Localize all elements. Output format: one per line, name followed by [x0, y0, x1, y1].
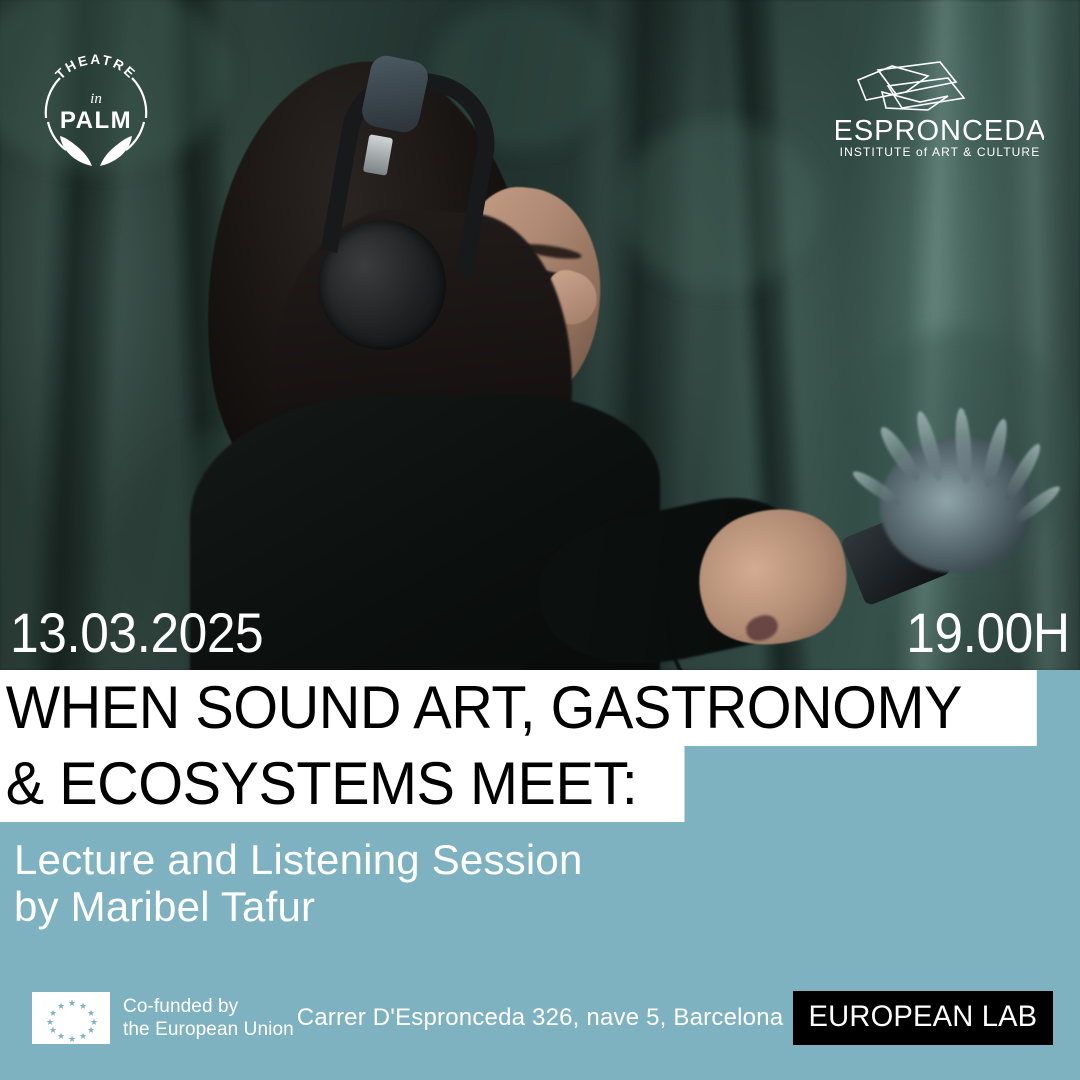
event-title-line-1: WHEN SOUND ART, GASTRONOMY — [0, 670, 1037, 746]
event-subtitle-line-1: Lecture and Listening Session — [14, 836, 583, 883]
person-figure — [150, 40, 850, 670]
espronceda-wordmark: ESPRONCEDA — [836, 115, 1044, 147]
event-poster: THEATRE in PALM ESPRONCEDA — [0, 0, 1080, 1080]
european-lab-badge: EUROPEAN LAB — [793, 991, 1053, 1045]
title-row-2: & ECOSYSTEMS MEET: — [0, 746, 1080, 822]
date-time-row: 13.03.2025 19.00H — [0, 596, 1080, 670]
event-date: 13.03.2025 — [10, 605, 263, 661]
espronceda-tagline: INSTITUTE of ART & CULTURE — [840, 145, 1041, 159]
theatre-in-palm-logo: THEATRE in PALM — [36, 44, 156, 169]
theatre-palm-text: PALM — [60, 107, 132, 134]
cupped-hands-icon — [60, 136, 132, 166]
espronceda-angular-mark-icon — [858, 62, 964, 110]
theatre-script-in: in — [90, 91, 102, 107]
event-title-line-2: & ECOSYSTEMS MEET: — [0, 746, 684, 822]
title-row-1: WHEN SOUND ART, GASTRONOMY — [0, 670, 1080, 746]
event-title: WHEN SOUND ART, GASTRONOMY & ECOSYSTEMS … — [0, 670, 1080, 822]
hero-photo: THEATRE in PALM ESPRONCEDA — [0, 0, 1080, 670]
svg-text:THEATRE: THEATRE — [53, 52, 140, 82]
espronceda-logo: ESPRONCEDA INSTITUTE of ART & CULTURE — [836, 52, 1044, 162]
poster-footer: ★ ★ ★ ★ ★ ★ ★ ★ ★ ★ ★ ★ Co-funded by the… — [0, 984, 1080, 1080]
event-subtitle: Lecture and Listening Session by Maribel… — [14, 836, 583, 930]
event-time: 19.00H — [907, 605, 1070, 661]
event-subtitle-line-2: by Maribel Tafur — [14, 883, 583, 930]
theatre-arc-text: THEATRE — [53, 52, 140, 82]
